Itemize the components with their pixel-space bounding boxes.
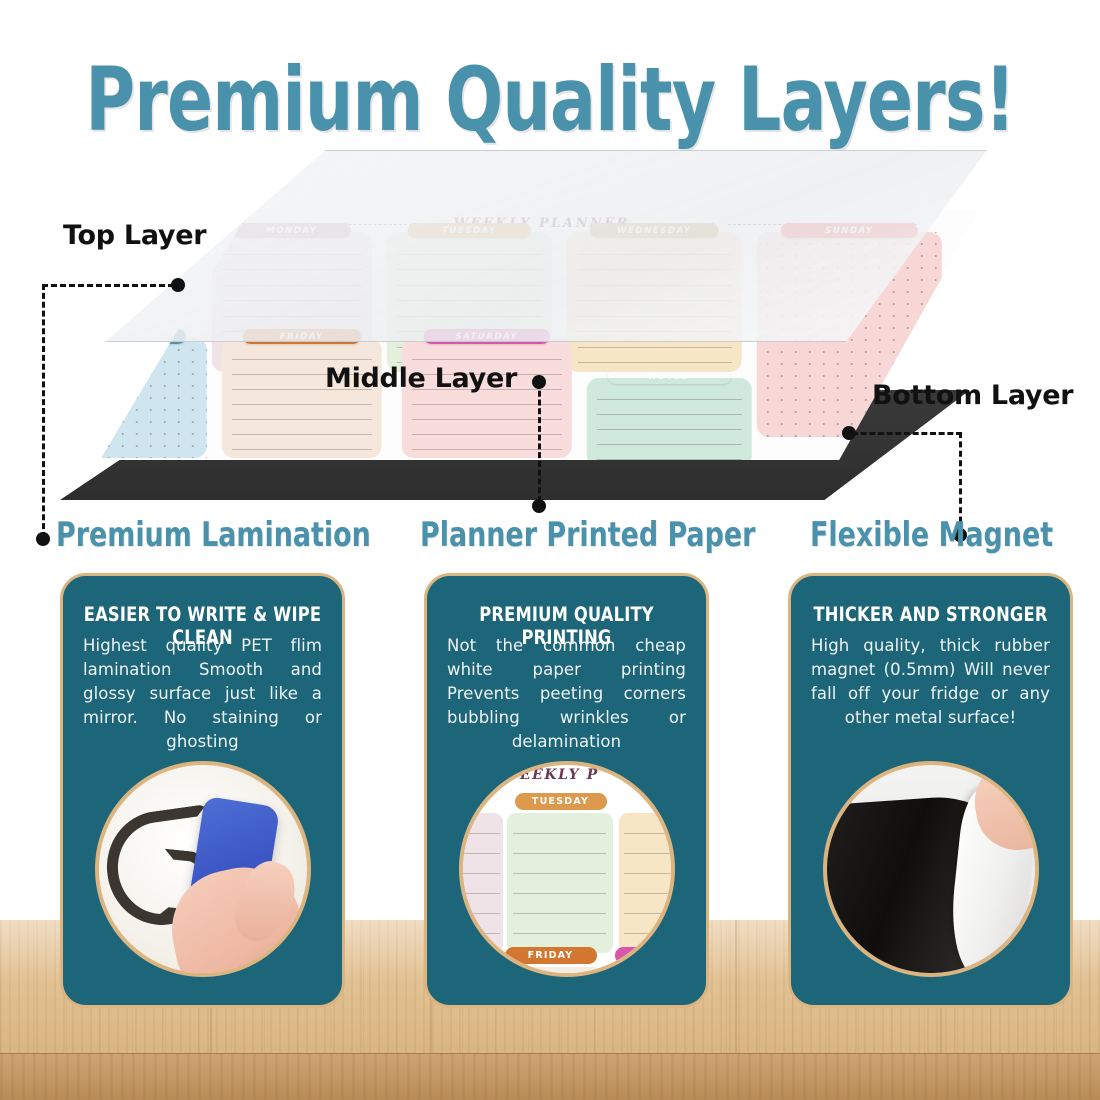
planner-day-column	[587, 378, 752, 460]
top-layer-leader-v	[42, 284, 45, 538]
planner-closeup-column	[459, 813, 503, 953]
label-top-layer: Top Layer	[63, 220, 206, 251]
label-bottom-layer: Bottom Layer	[872, 380, 1073, 411]
planner-day-column	[402, 338, 572, 458]
feature-card-easier-to-write[interactable]: EASIER TO WRITE & WIPE CLEAN Highest qua…	[60, 573, 345, 1008]
card-heading: THICKER AND STRONGER	[810, 603, 1051, 626]
planner-closeup-column	[507, 813, 613, 953]
planner-closeup-pill: SATURD	[615, 947, 675, 964]
bottom-layer-leader-h	[852, 432, 962, 435]
planner-closeup-column	[611, 967, 675, 977]
photo-hand-wiping-board	[95, 761, 311, 977]
card-body: Highest quality PET flim lamination Smoo…	[83, 634, 322, 754]
planner-paper-dot	[532, 499, 546, 513]
feature-card-premium-printing[interactable]: PREMIUM QUALITY PRINTING Not the common …	[424, 573, 709, 1008]
planner-closeup-column	[497, 967, 603, 977]
planner-closeup-column	[619, 813, 675, 953]
infographic-page: Premium Quality Layers! WEEKLY PLANNER M…	[0, 0, 1100, 1100]
planner-day-column	[222, 338, 382, 458]
card-body: Not the common cheap white paper printin…	[447, 634, 686, 754]
photo-peeling-magnet	[823, 761, 1039, 977]
middle-layer-leader-v	[538, 382, 541, 502]
caption-flexible-magnet: Flexible Magnet	[810, 515, 1053, 555]
label-middle-layer: Middle Layer	[325, 363, 517, 394]
caption-planner-printed-paper: Planner Printed Paper	[420, 515, 755, 555]
photo-planner-closeup: WEEKLY P TUESDAYFRIDAYSATURD	[459, 761, 675, 977]
planner-closeup-title: WEEKLY P	[503, 767, 599, 783]
feature-card-thicker-stronger[interactable]: THICKER AND STRONGER High quality, thick…	[788, 573, 1073, 1008]
page-title: Premium Quality Layers!	[77, 52, 1023, 148]
top-layer-sheet	[105, 150, 987, 342]
planner-closeup-pill: FRIDAY	[505, 947, 597, 964]
layer-diagram: WEEKLY PLANNER MONDAYTUESDAYWEDNESDAYSUN…	[0, 150, 1100, 550]
caption-premium-lamination: Premium Lamination	[56, 515, 371, 555]
top-layer-leader-h	[42, 284, 174, 287]
planner-day-column	[100, 338, 207, 458]
planner-closeup-pill: TUESDAY	[515, 793, 607, 810]
card-body: High quality, thick rubber magnet (0.5mm…	[811, 634, 1050, 730]
planner-day-pill: NOTES	[608, 369, 730, 384]
premium-lamination-dot	[36, 532, 50, 546]
